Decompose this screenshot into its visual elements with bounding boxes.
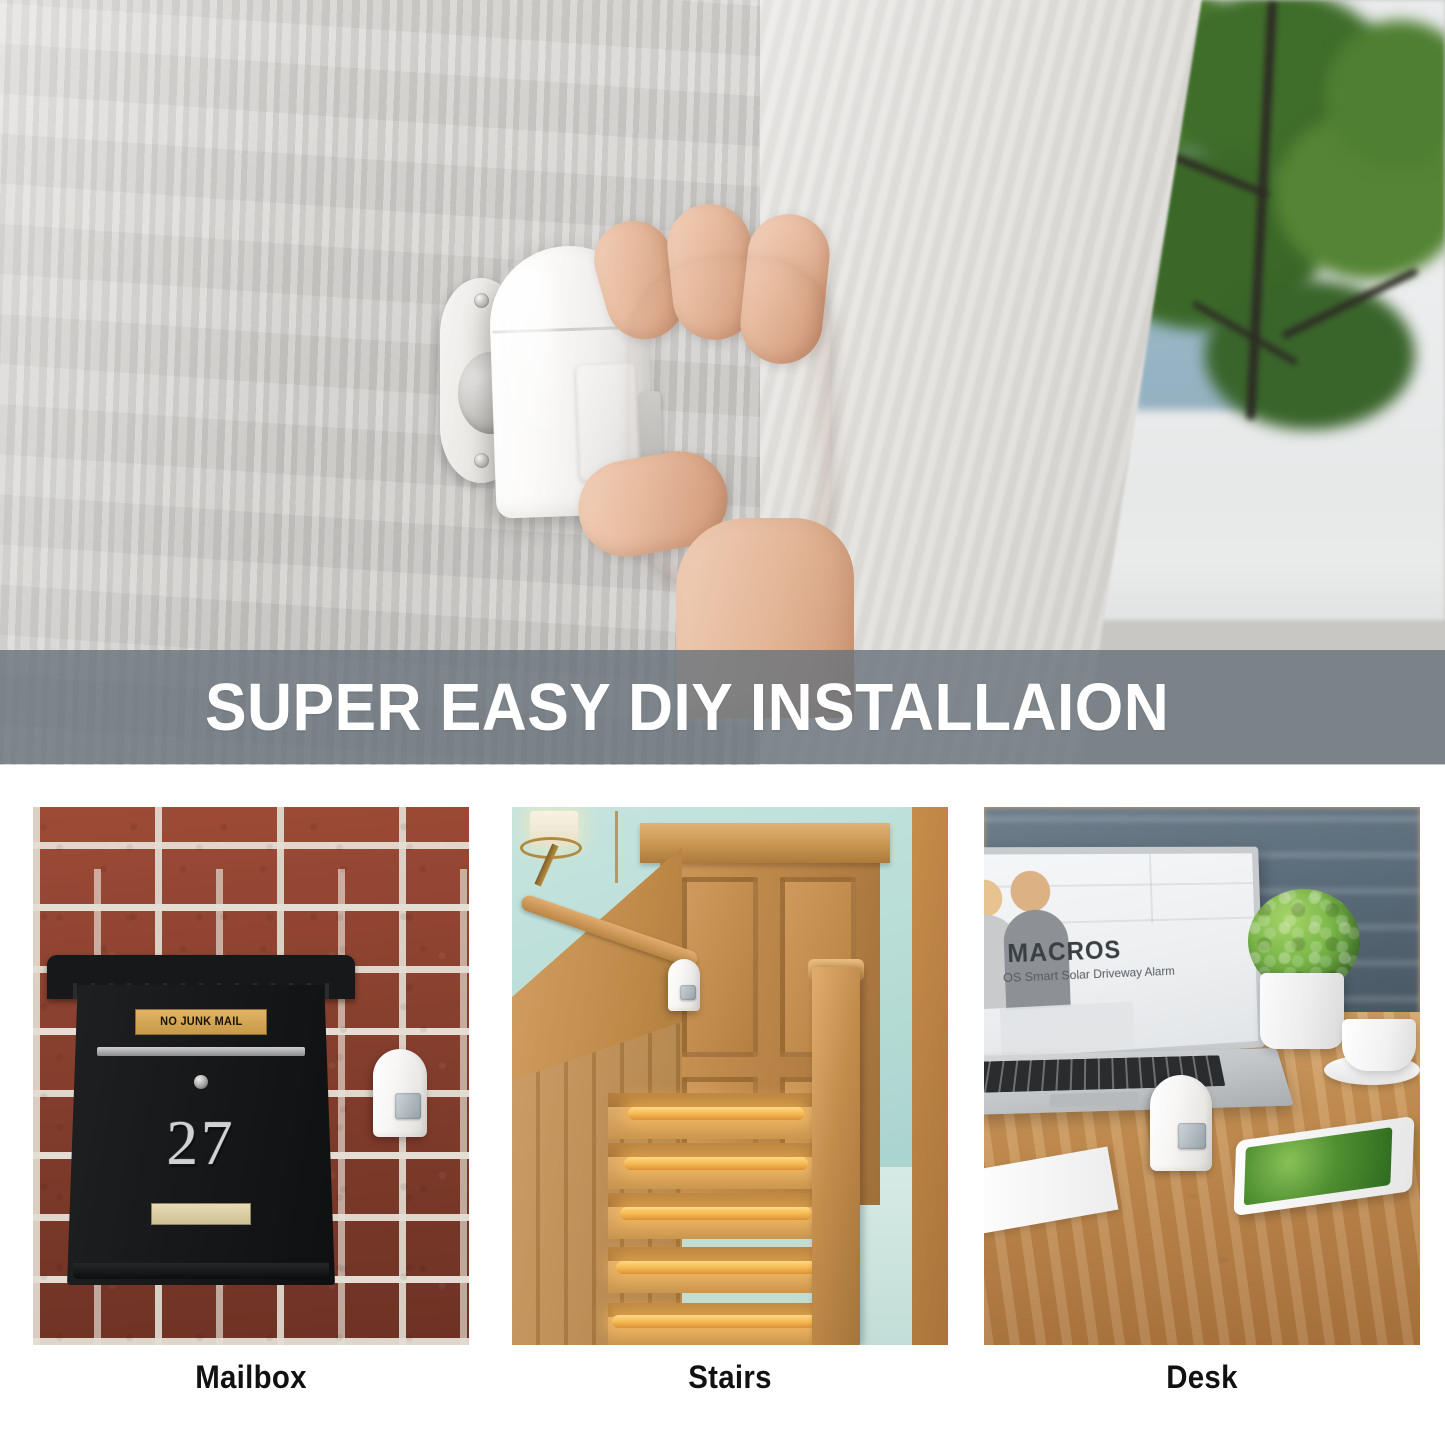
right-door-frame (912, 807, 948, 1345)
banner-overlay: SUPER EASY DIY INSTALLAION (0, 650, 1445, 764)
phone-screen (1244, 1127, 1393, 1205)
thumbnail-stairs[interactable] (512, 807, 948, 1345)
thumbnail-desk[interactable]: MACROS OS Smart Solar Driveway Alarm (984, 807, 1420, 1345)
no-junk-mail-plate: NO JUNK MAIL (135, 1009, 267, 1035)
bracket-screw-bottom (474, 453, 489, 468)
mailbox-lock (194, 1075, 208, 1089)
pull-cord (615, 811, 618, 883)
sensor-install-group (418, 228, 748, 648)
laptop-trackpad (1049, 1092, 1139, 1108)
hand-holding-device (538, 218, 838, 648)
step-light (612, 1315, 820, 1328)
use-case-cell-mailbox[interactable]: NO JUNK MAIL 27 Mailbox (33, 807, 469, 1345)
mailbox: NO JUNK MAIL 27 (67, 955, 335, 1285)
caption-stairs: Stairs (529, 1359, 930, 1396)
laptop-brand-text: MACROS (1007, 936, 1122, 969)
use-case-cell-desk[interactable]: MACROS OS Smart Solar Driveway Alarm (984, 807, 1420, 1345)
mounted-motion-sensor (373, 1049, 427, 1137)
sensor-lens (680, 985, 696, 1000)
plant-pot (1260, 973, 1344, 1049)
staircase-scene (512, 807, 948, 1345)
sensor-lens (395, 1093, 421, 1119)
coffee-cup (1342, 1019, 1416, 1071)
mailbox-nameplate (151, 1203, 251, 1225)
screen-divider (1149, 854, 1153, 923)
use-case-cell-stairs[interactable]: Stairs (512, 807, 948, 1345)
bracket-screw-top (474, 293, 489, 308)
hero-image: SUPER EASY DIY INSTALLAION (0, 0, 1445, 765)
no-junk-mail-text: NO JUNK MAIL (160, 1016, 242, 1028)
motion-sensor-on-desk (1150, 1075, 1212, 1171)
use-case-thumbnail-grid: NO JUNK MAIL 27 Mailbox (0, 807, 1445, 1367)
newel-post (812, 967, 860, 1345)
mounted-motion-sensor (668, 959, 700, 1011)
product-marketing-image: SUPER EASY DIY INSTALLAION NO JUNK MAIL … (0, 0, 1445, 1445)
laptop-base (984, 1048, 1294, 1116)
step-light (628, 1107, 804, 1120)
thumbnail-mailbox[interactable]: NO JUNK MAIL 27 (33, 807, 469, 1345)
wall-sconce-light (512, 811, 590, 891)
screen-box (1000, 1001, 1134, 1055)
laptop-screen: MACROS OS Smart Solar Driveway Alarm (984, 847, 1265, 1068)
house-number: 27 (67, 1107, 335, 1180)
mailbox-base (73, 1263, 329, 1279)
sensor-lens (1178, 1123, 1206, 1149)
step-light (624, 1157, 808, 1170)
desk-scene: MACROS OS Smart Solar Driveway Alarm (984, 807, 1420, 1345)
step-light (616, 1261, 816, 1274)
banner-title: SUPER EASY DIY INSTALLAION (205, 674, 1169, 741)
step-light (620, 1207, 812, 1220)
mail-slot (97, 1047, 305, 1056)
caption-mailbox: Mailbox (50, 1359, 451, 1396)
caption-desk: Desk (1001, 1359, 1402, 1396)
